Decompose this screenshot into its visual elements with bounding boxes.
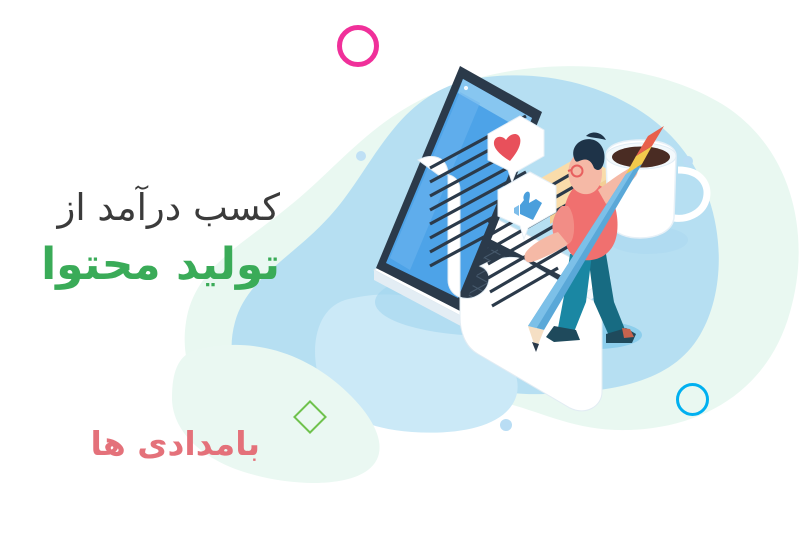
hair-tuft xyxy=(586,133,606,140)
content-writer-illustration xyxy=(330,40,730,444)
brand-logo[interactable]: بامدادی ها xyxy=(86,424,260,463)
mug-handle xyxy=(674,170,707,218)
headline-block: کسب درآمد از تولید محتوا xyxy=(20,186,280,290)
headline-primary: کسب درآمد از xyxy=(20,186,280,230)
banner-canvas: کسب درآمد از تولید محتوا بامدادی ها xyxy=(0,0,800,560)
browser-dot xyxy=(464,86,468,90)
headline-secondary: تولید محتوا xyxy=(20,240,280,291)
brand-logo-text: بامدادی ها xyxy=(90,424,260,463)
